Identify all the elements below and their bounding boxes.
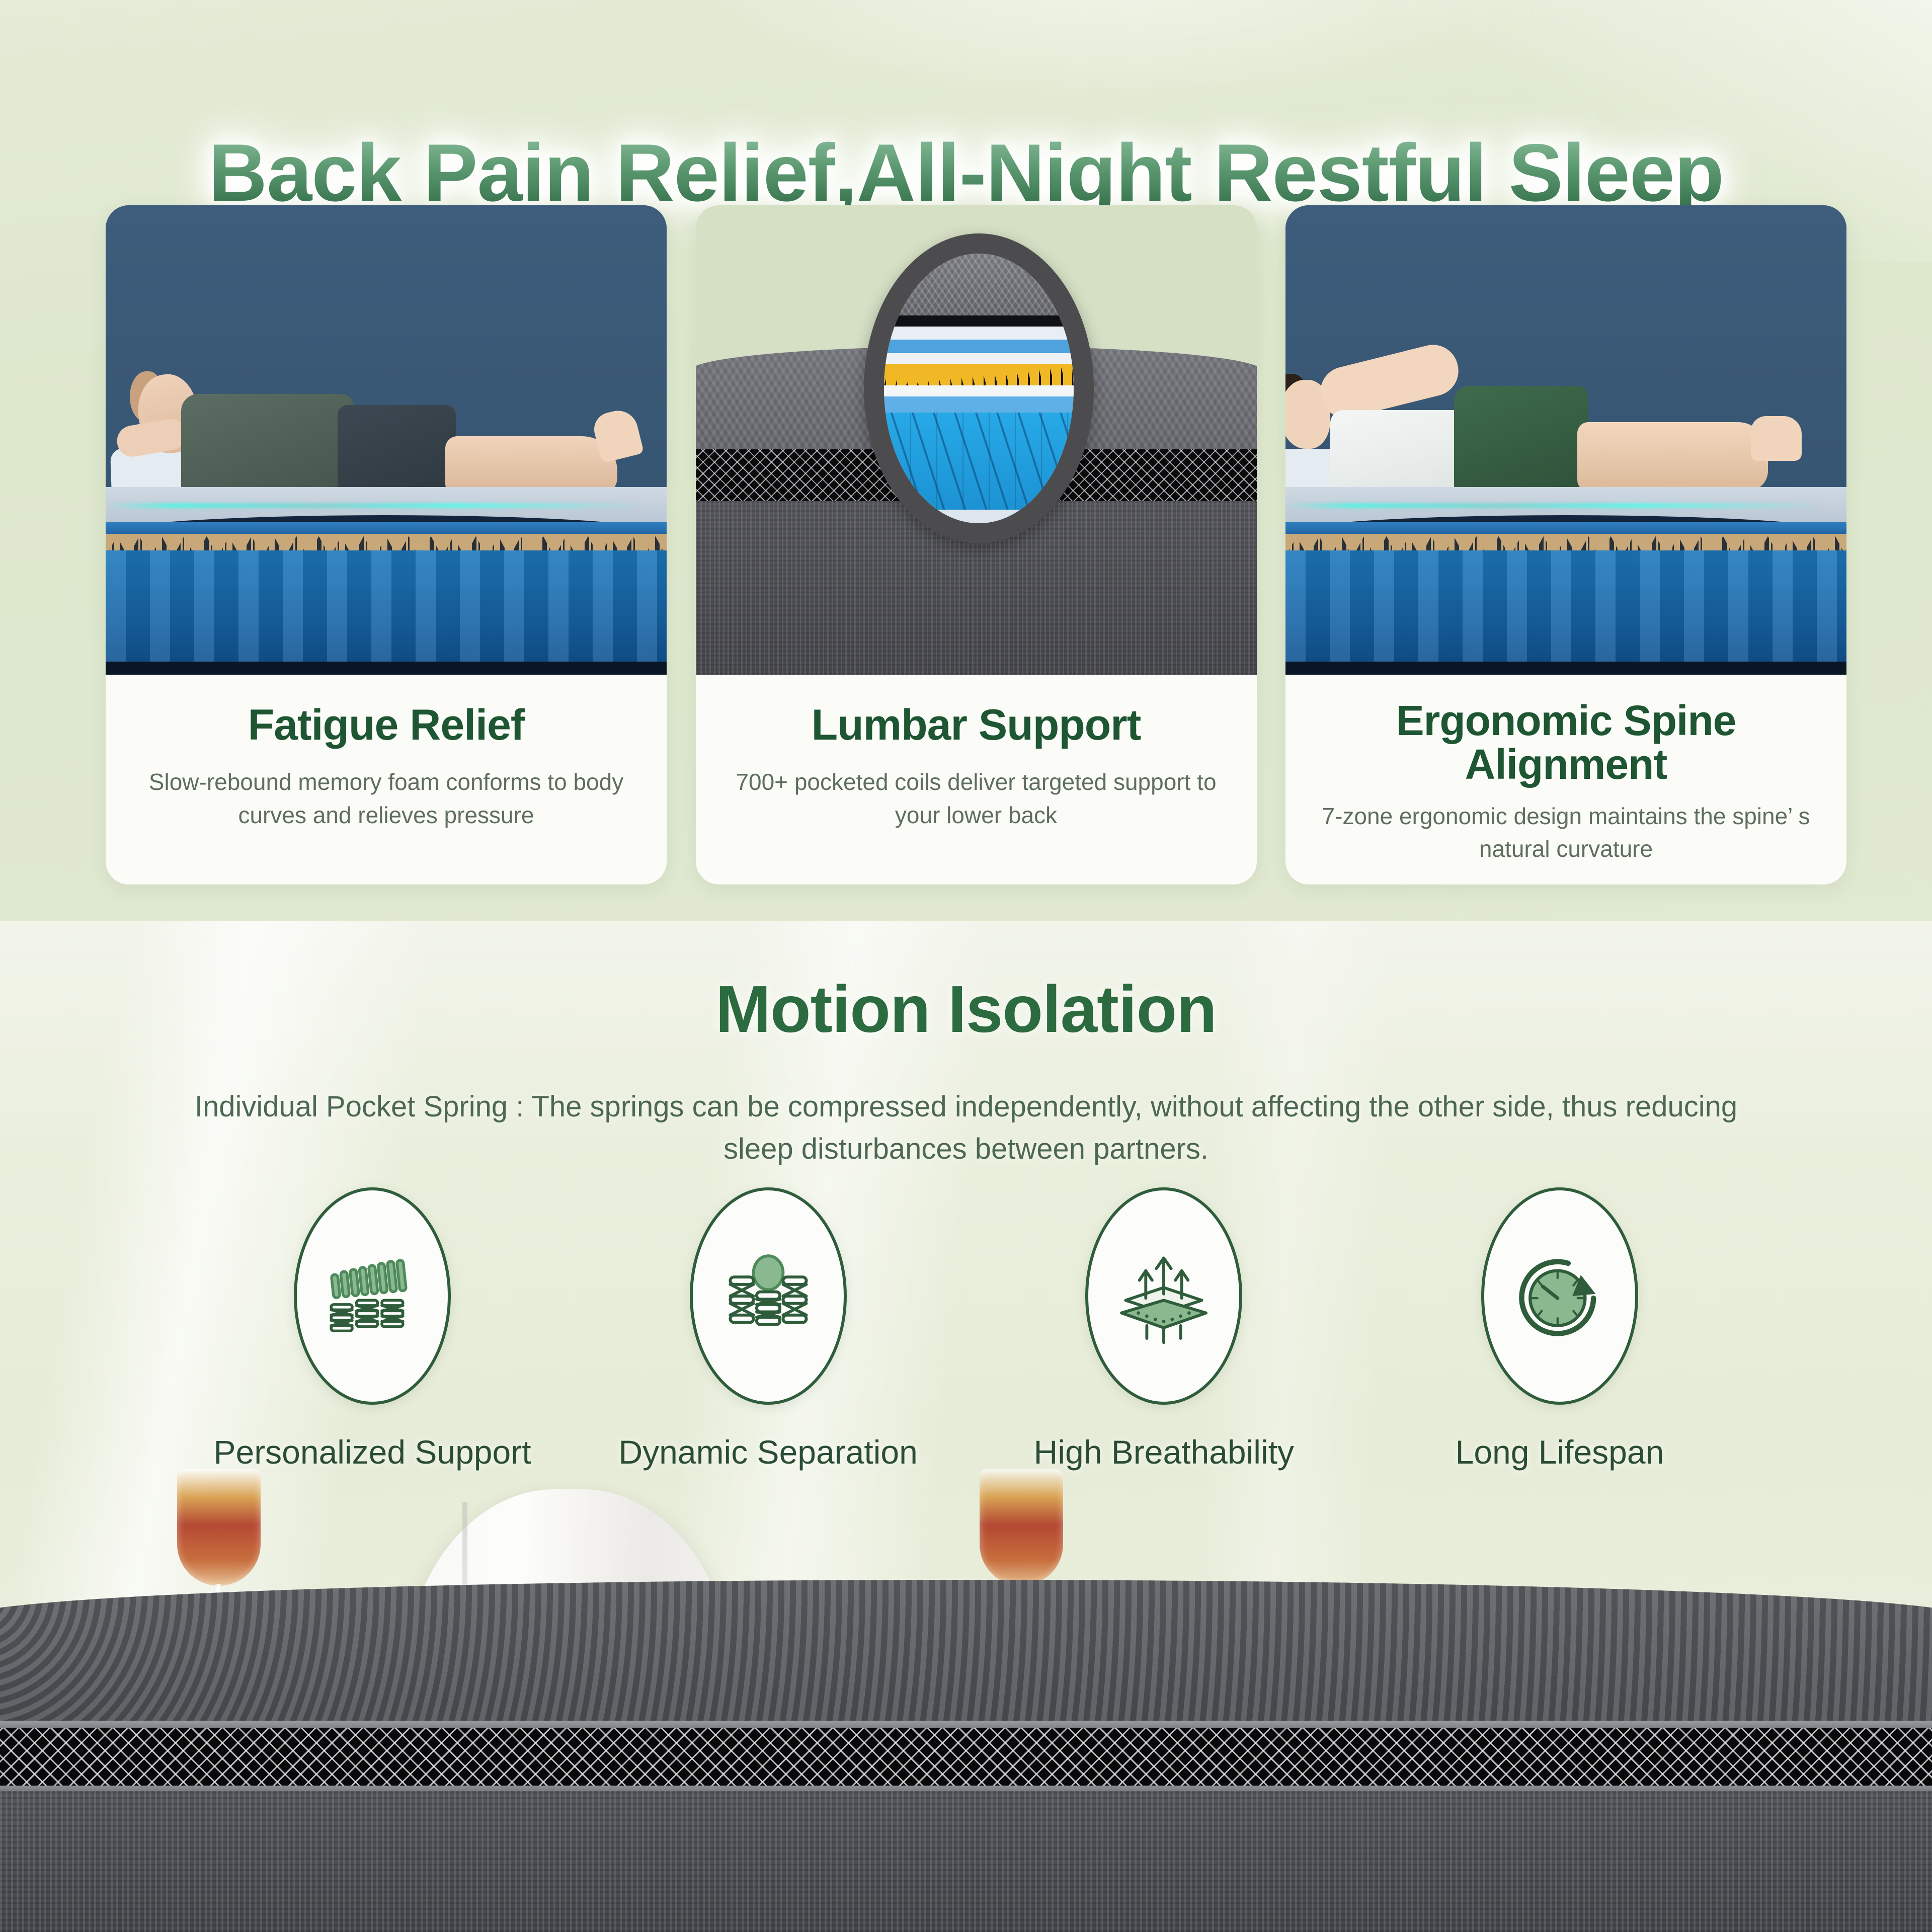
card-title: Fatigue Relief	[248, 703, 525, 748]
feature-card-fatigue-relief[interactable]: Fatigue Relief Slow-rebound memory foam …	[106, 205, 667, 884]
springs-with-ball-icon	[715, 1243, 821, 1349]
layer-white-foam-2	[884, 353, 1074, 364]
pocket-coil-row-icon	[319, 1243, 425, 1349]
layer-black-felt	[884, 315, 1074, 326]
mattress-cutaway-scene	[696, 205, 1257, 675]
feature-dynamic-separation[interactable]: Dynamic Separation	[607, 1187, 929, 1471]
torso	[181, 394, 354, 501]
card-text-block: Fatigue Relief Slow-rebound memory foam …	[106, 675, 667, 884]
support-glow-line	[106, 503, 667, 508]
feature-personalized-support[interactable]: Personalized Support	[211, 1187, 533, 1471]
card-photo-sleeper-supine	[106, 205, 667, 675]
card-photo-sleeper-side	[1285, 205, 1846, 675]
mattress-base	[1285, 662, 1846, 675]
card-text-block: Lumbar Support 700+ pocketed coils deliv…	[696, 675, 1257, 884]
legs	[1577, 422, 1768, 491]
magnifier-lens	[864, 233, 1094, 543]
support-glow-line	[1285, 503, 1846, 508]
layer-white-foam-3	[884, 385, 1074, 396]
breathable-layers-airflow-icon	[1111, 1243, 1217, 1349]
card-photo-cross-section	[696, 205, 1257, 675]
pocket-coil-layer	[1285, 550, 1846, 675]
feature-high-breathability[interactable]: High Breathability	[1003, 1187, 1325, 1471]
feature-card-spine-alignment[interactable]: Ergonomic Spine Alignment 7-zone ergonom…	[1285, 205, 1846, 884]
page-title: Back Pain Relief,All-Night Restful Sleep	[0, 130, 1932, 216]
layer-blue-foam-2	[884, 396, 1074, 413]
feature-label: Long Lifespan	[1456, 1433, 1664, 1471]
feature-badge	[1481, 1187, 1638, 1405]
card-description: 700+ pocketed coils deliver targeted sup…	[723, 766, 1230, 832]
shorts	[1454, 386, 1589, 503]
card-title: Ergonomic Spine Alignment	[1313, 699, 1819, 787]
section-title: Motion Isolation	[0, 971, 1932, 1047]
glass-bowl	[980, 1469, 1063, 1586]
night-bedroom-scene	[1285, 205, 1846, 675]
layer-convoluted-foam	[884, 364, 1074, 386]
motion-isolation-section: Motion Isolation Individual Pocket Sprin…	[0, 921, 1932, 1932]
layer-pocket-coils	[884, 413, 1074, 523]
glass-bowl	[177, 1469, 261, 1586]
layer-blue-foam	[884, 340, 1074, 353]
feature-badge	[294, 1187, 451, 1405]
feature-cards-row: Fatigue Relief Slow-rebound memory foam …	[106, 205, 1846, 884]
mattress-base	[106, 662, 667, 675]
layer-white-foam	[884, 327, 1074, 340]
card-title: Lumbar Support	[812, 703, 1141, 748]
card-description: Slow-rebound memory foam conforms to bod…	[133, 766, 639, 832]
layer-base	[884, 510, 1074, 523]
clock-refresh-icon	[1507, 1243, 1613, 1349]
card-text-block: Ergonomic Spine Alignment 7-zone ergonom…	[1285, 675, 1846, 884]
mattress-side-panel	[0, 1791, 1932, 1932]
feature-badge	[1085, 1187, 1242, 1405]
feature-icon-row: Personalized Support	[211, 1187, 1721, 1471]
mattress-quilted-top	[0, 1580, 1932, 1728]
feature-long-lifespan[interactable]: Long Lifespan	[1399, 1187, 1721, 1471]
feature-label: Personalized Support	[213, 1433, 531, 1471]
feet	[1751, 416, 1801, 461]
pocket-coil-layer	[106, 550, 667, 675]
card-description: 7-zone ergonomic design maintains the sp…	[1313, 800, 1819, 866]
mattress-mesh-band	[0, 1728, 1932, 1788]
night-bedroom-scene	[106, 205, 667, 675]
feature-label: High Breathability	[1034, 1433, 1294, 1471]
section-subtitle: Individual Pocket Spring : The springs c…	[181, 1086, 1751, 1170]
feature-label: Dynamic Separation	[619, 1433, 918, 1471]
feature-card-lumbar-support[interactable]: Lumbar Support 700+ pocketed coils deliv…	[696, 205, 1257, 884]
layer-quilted-cover	[884, 254, 1074, 315]
feature-badge	[690, 1187, 847, 1405]
mattress-hero-photo	[0, 1580, 1932, 1932]
